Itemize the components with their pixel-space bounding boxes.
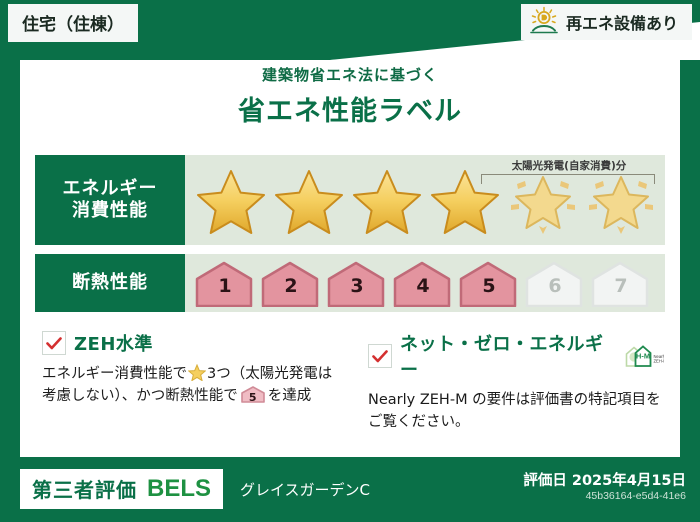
star-icon — [193, 164, 269, 236]
star-icon — [271, 164, 347, 236]
insulation-level-number: 3 — [325, 275, 389, 297]
insulation-house-group: 1 2 3 — [193, 254, 665, 312]
energy-performance-row-label: エネルギー 消費性能 — [35, 155, 185, 245]
inline-house-icon: 5 — [240, 386, 266, 403]
zeh-criterion-title: ZEH水準 — [74, 330, 153, 356]
check-icon — [42, 331, 66, 355]
insulation-house-icon: 6 — [523, 259, 587, 307]
insulation-house-icon: 4 — [391, 259, 455, 307]
solar-bracket — [481, 174, 655, 184]
label-body-panel: 建築物省エネ法に基づく 省エネ性能ラベル エネルギー 消費性能 太陽光発電(自家… — [20, 42, 680, 457]
insulation-level-number: 5 — [457, 275, 521, 297]
zeh-criterion-header: ZEH水準 — [42, 330, 334, 356]
insulation-house-icon: 5 — [457, 259, 521, 307]
energy-performance-stars-area: 太陽光発電(自家消費)分 — [185, 155, 665, 245]
zeh-criterion: ZEH水準 エネルギー消費性能で 3つ（太陽光発電は考慮しない）、かつ断熱性能で… — [20, 330, 350, 434]
label-footer: 第三者評価 BELS グレイスガーデンC 評価日 2025年4月15日 45b3… — [0, 457, 700, 522]
building-type-label: 住宅（住棟） — [22, 15, 124, 35]
label-title-main: 省エネ性能ラベル — [20, 89, 680, 128]
evaluation-date: 評価日 2025年4月15日 — [523, 469, 686, 490]
insulation-level-number: 4 — [391, 275, 455, 297]
energy-performance-row: エネルギー 消費性能 太陽光発電(自家消費)分 — [35, 155, 665, 245]
insulation-house-icon: 7 — [589, 259, 653, 307]
insulation-house-icon: 3 — [325, 259, 389, 307]
insulation-levels-area: 1 2 3 — [185, 254, 665, 312]
insulation-level-number: 2 — [259, 275, 323, 297]
insulation-house-icon: 1 — [193, 259, 257, 307]
net-zero-criterion-title: ネット・ゼロ・エネルギー — [400, 330, 612, 382]
bels-chip: 第三者評価 BELS — [20, 469, 223, 509]
check-icon — [368, 344, 392, 368]
energy-label-line1: エネルギー — [63, 178, 158, 201]
zeh-text-c: を達成 — [268, 388, 312, 404]
label-title-block: 建築物省エネ法に基づく 省エネ性能ラベル — [20, 64, 680, 128]
evaluation-id: 45b36164-e5d4-41e6 — [586, 490, 686, 502]
insulation-level-number: 7 — [589, 275, 653, 297]
criteria-section: ZEH水準 エネルギー消費性能で 3つ（太陽光発電は考慮しない）、かつ断熱性能で… — [20, 330, 680, 434]
insulation-performance-row: 断熱性能 1 2 — [35, 254, 665, 312]
insulation-house-icon: 2 — [259, 259, 323, 307]
third-party-label: 第三者評価 — [32, 474, 137, 503]
property-name: グレイスガーデンC — [240, 479, 370, 500]
solar-sun-icon — [529, 6, 559, 38]
insulation-performance-row-label: 断熱性能 — [35, 254, 185, 312]
zeh-m-logo-icon: H-M Nearly ZEH-M — [624, 343, 664, 369]
inline-house-number: 5 — [240, 389, 266, 406]
star-icon — [349, 164, 425, 236]
energy-performance-label-card: 住宅（住棟） 再エネ設備あり — [0, 0, 700, 522]
renewable-badge-label: 再エネ設備あり — [566, 10, 678, 34]
renewable-equipment-badge: 再エネ設備あり — [521, 4, 692, 40]
solar-generation-note: 太陽光発電(自家消費)分 — [481, 158, 657, 173]
zeh-criterion-body: エネルギー消費性能で 3つ（太陽光発電は考慮しない）、かつ断熱性能で 5 を達成 — [42, 363, 334, 408]
insulation-level-number: 1 — [193, 275, 257, 297]
energy-label-line2: 消費性能 — [63, 200, 158, 223]
insulation-level-number: 6 — [523, 275, 587, 297]
net-zero-criterion-body: Nearly ZEH-M の要件は評価書の特記項目をご覧ください。 — [368, 389, 664, 434]
label-title-sub: 建築物省エネ法に基づく — [20, 64, 680, 85]
inline-star-icon — [188, 364, 206, 381]
net-zero-criterion: ネット・ゼロ・エネルギー H-M Nearly ZEH-M Nearly ZEH… — [350, 330, 680, 434]
net-zero-criterion-header: ネット・ゼロ・エネルギー H-M Nearly ZEH-M — [368, 330, 664, 382]
building-type-chip: 住宅（住棟） — [8, 4, 138, 42]
bels-label: BELS — [147, 475, 211, 503]
zeh-text-a: エネルギー消費性能で — [42, 366, 187, 382]
zeh-m-logo-sub2: ZEH-M — [654, 359, 665, 364]
zeh-m-logo-text: H-M — [636, 352, 650, 361]
